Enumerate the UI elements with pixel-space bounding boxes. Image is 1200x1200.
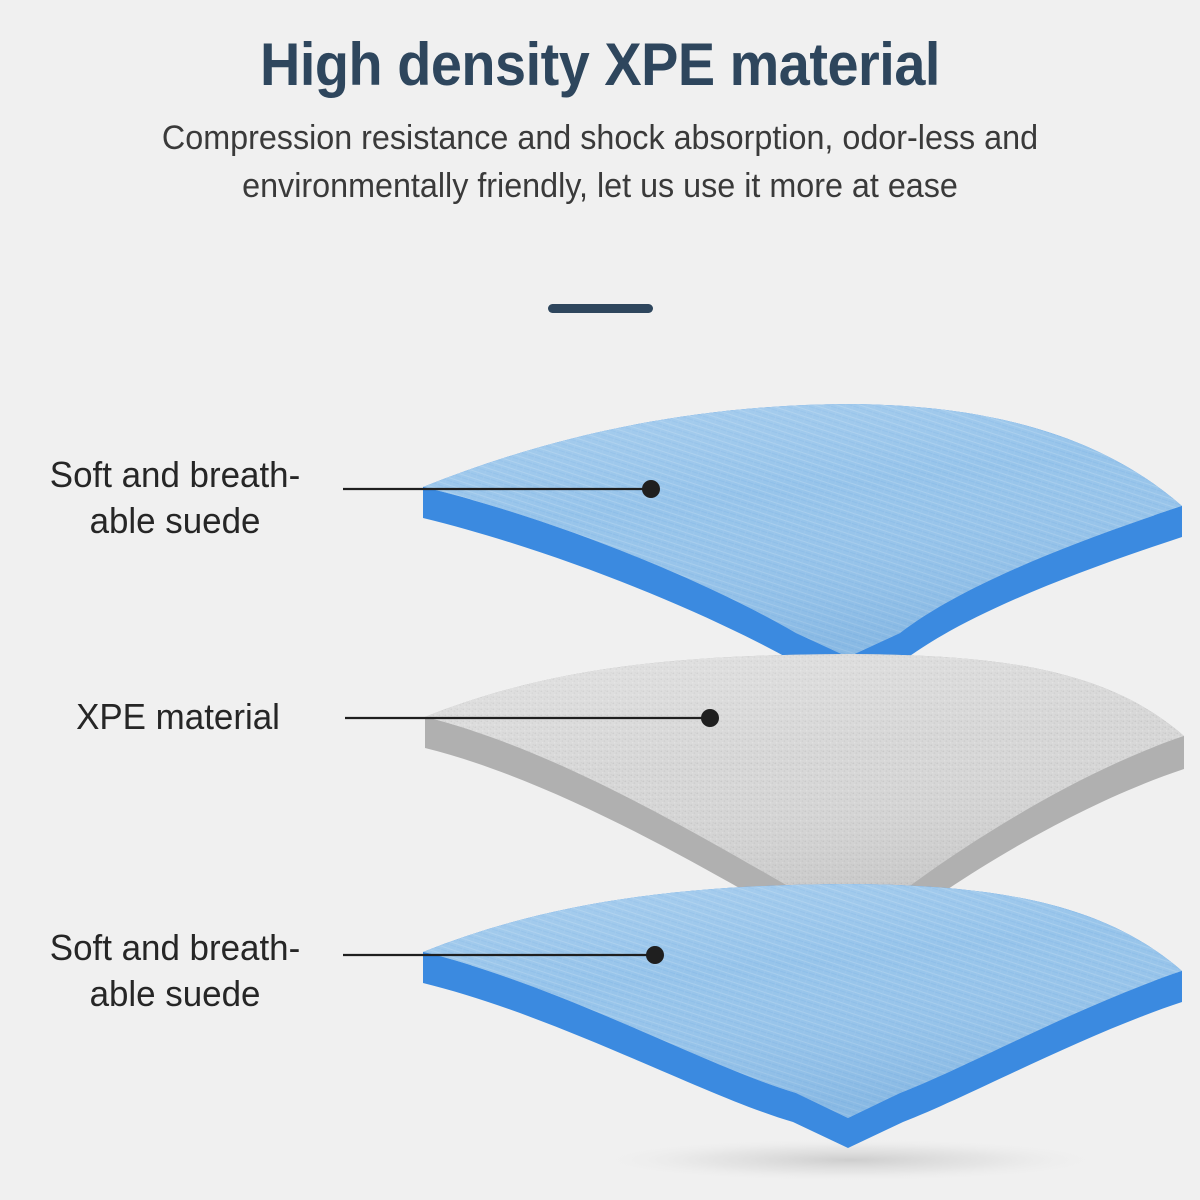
callout-label-bottom-suede: Soft and breath- able suede	[15, 925, 335, 1017]
layer-bottom-suede	[423, 884, 1182, 1148]
callout-label-xpe-core: XPE material	[23, 694, 333, 740]
leader-dot-middle	[701, 709, 719, 727]
leader-dot-top	[642, 480, 660, 498]
callout-label-top-suede: Soft and breath- able suede	[15, 452, 335, 544]
layer-diagram	[0, 0, 1200, 1200]
layer-top-suede	[423, 404, 1182, 688]
leader-dot-bottom	[646, 946, 664, 964]
